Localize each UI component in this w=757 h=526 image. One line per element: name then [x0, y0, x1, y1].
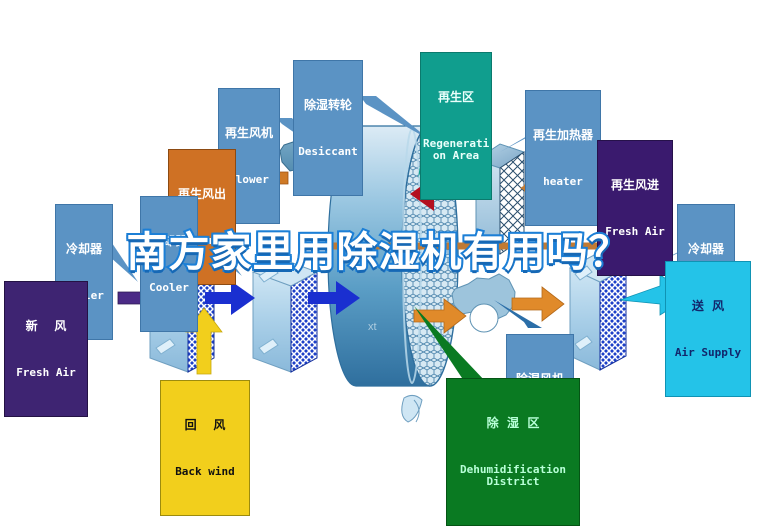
label-cn: 再生风机 — [221, 127, 277, 140]
label-en: Fresh Air — [600, 226, 670, 238]
label-en: Back wind — [163, 466, 247, 478]
label-cn: 除 湿 区 — [449, 417, 577, 430]
label-dehumidify-district: 除 湿 区 Dehumidification District — [446, 378, 580, 526]
label-desiccant-rotor: 除湿转轮 Desiccant — [293, 60, 363, 196]
label-en: Air Supply — [668, 347, 748, 359]
label-en: heater — [528, 176, 598, 188]
label-en: Cooler — [143, 282, 195, 294]
label-back-wind: 回 风 Back wind — [160, 380, 250, 516]
label-regeneration-heater: 再生加热器 heater — [525, 90, 601, 226]
label-en: Fresh Air — [7, 367, 85, 379]
label-en: Dehumidification District — [449, 464, 577, 488]
label-en: Desiccant — [296, 146, 360, 158]
watermark: xt — [368, 321, 377, 333]
label-cooler-left-2: 冷却器 Cooler — [140, 196, 198, 332]
label-regeneration-area: 再生区 Regenerati on Area — [420, 52, 492, 200]
label-cn: 冷却器 — [143, 235, 195, 248]
diagram-canvas: xt 除湿转轮 Desiccant 再生风机 Blower 再生区 Regene… — [0, 0, 757, 488]
label-en: Regenerati on Area — [423, 138, 489, 162]
label-cn: 冷却器 — [680, 243, 732, 256]
dehumidify-blower-fan — [452, 274, 515, 332]
label-cn: 新 风 — [7, 320, 85, 333]
label-fresh-air-process: 新 风 Fresh Air — [4, 281, 88, 417]
label-cn: 再生区 — [423, 91, 489, 104]
label-cn: 回 风 — [163, 419, 247, 432]
label-cn: 除湿转轮 — [296, 99, 360, 112]
label-air-supply: 送 风 Air Supply — [665, 261, 751, 397]
label-cn: 再生加热器 — [528, 129, 598, 142]
label-cn: 冷却器 — [58, 243, 110, 256]
label-fresh-air-regen: 再生风进 Fresh Air — [597, 140, 673, 276]
cooler-coil-2 — [253, 258, 317, 372]
label-cn: 送 风 — [668, 300, 748, 313]
label-cn: 再生风进 — [600, 179, 670, 192]
